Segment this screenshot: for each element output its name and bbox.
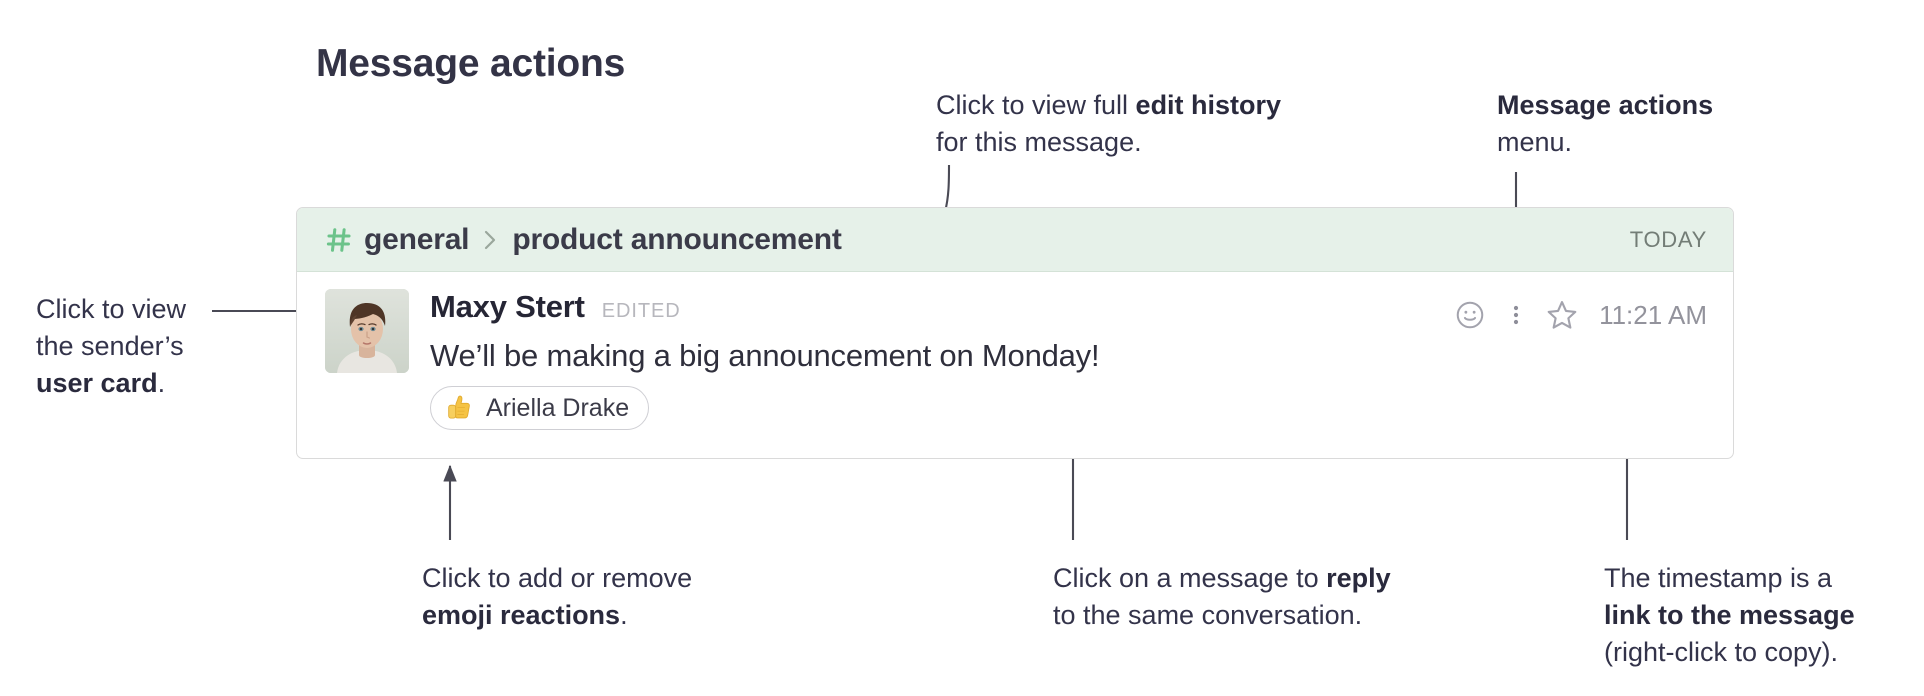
- annotation-emoji-line2-bold: emoji reactions: [422, 600, 620, 630]
- smiley-face-icon[interactable]: [1447, 295, 1493, 335]
- annotation-timestamp-line1: The timestamp is a: [1604, 563, 1832, 593]
- annotation-actions-menu-line1: Message actions: [1497, 90, 1713, 120]
- topic-name[interactable]: product announcement: [512, 223, 841, 257]
- reaction-pill[interactable]: Ariella Drake: [430, 386, 649, 430]
- annotation-actions-menu: Message actions menu.: [1497, 87, 1797, 161]
- reaction-row: Ariella Drake: [430, 386, 1707, 430]
- annotation-user-card-line3-bold: user card: [36, 368, 158, 398]
- date-label: TODAY: [1630, 227, 1707, 253]
- message-card: general product announcement TODAY: [296, 207, 1734, 459]
- annotation-edit-history: Click to view full edit history for this…: [936, 87, 1356, 161]
- annotation-reply-line2: to the same conversation.: [1053, 600, 1362, 630]
- card-body: Maxy Stert EDITED We’ll be making a big …: [297, 272, 1733, 430]
- screenshot-root: Message actions Click to view full edit …: [0, 0, 1924, 696]
- message-body[interactable]: We’ll be making a big announcement on Mo…: [430, 338, 1707, 374]
- annotation-reply: Click on a message to reply to the same …: [1053, 560, 1453, 634]
- message-timestamp[interactable]: 11:21 AM: [1599, 300, 1707, 331]
- avatar[interactable]: [325, 289, 409, 373]
- thumbs-up-icon: [444, 393, 474, 423]
- card-header: general product announcement TODAY: [297, 208, 1733, 272]
- chevron-right-icon: [483, 228, 498, 252]
- sender-name[interactable]: Maxy Stert: [430, 289, 585, 325]
- star-icon[interactable]: [1539, 295, 1585, 335]
- annotation-edit-history-line2: for this message.: [936, 127, 1142, 157]
- message-actions: 11:21 AM: [1447, 295, 1707, 335]
- page-title: Message actions: [316, 42, 625, 86]
- avatar-image: [325, 289, 409, 373]
- annotation-user-card-line1: Click to view: [36, 294, 186, 324]
- annotation-emoji-reactions: Click to add or remove emoji reactions.: [422, 560, 752, 634]
- annotation-user-card: Click to view the sender’s user card.: [36, 291, 286, 402]
- vertical-ellipsis-icon[interactable]: [1493, 295, 1539, 335]
- annotation-timestamp-link: The timestamp is a link to the message (…: [1604, 560, 1904, 671]
- annotation-reply-line1-bold: reply: [1326, 563, 1391, 593]
- annotation-timestamp-line2-bold: link to the message: [1604, 600, 1855, 630]
- annotation-user-card-line3-post: .: [158, 368, 166, 398]
- annotation-edit-history-line1-bold: edit history: [1136, 90, 1282, 120]
- annotation-emoji-line1: Click to add or remove: [422, 563, 692, 593]
- annotation-timestamp-line3: (right-click to copy).: [1604, 637, 1838, 667]
- annotation-reply-line1-pre: Click on a message to: [1053, 563, 1326, 593]
- hash-icon: [325, 225, 353, 255]
- edited-tag[interactable]: EDITED: [602, 300, 681, 323]
- annotation-user-card-line2: the sender’s: [36, 331, 184, 361]
- annotation-emoji-line2-post: .: [620, 600, 628, 630]
- annotation-edit-history-line1-pre: Click to view full: [936, 90, 1136, 120]
- reaction-label: Ariella Drake: [486, 394, 629, 423]
- channel-name[interactable]: general: [364, 223, 469, 257]
- annotation-actions-menu-line2: menu.: [1497, 127, 1572, 157]
